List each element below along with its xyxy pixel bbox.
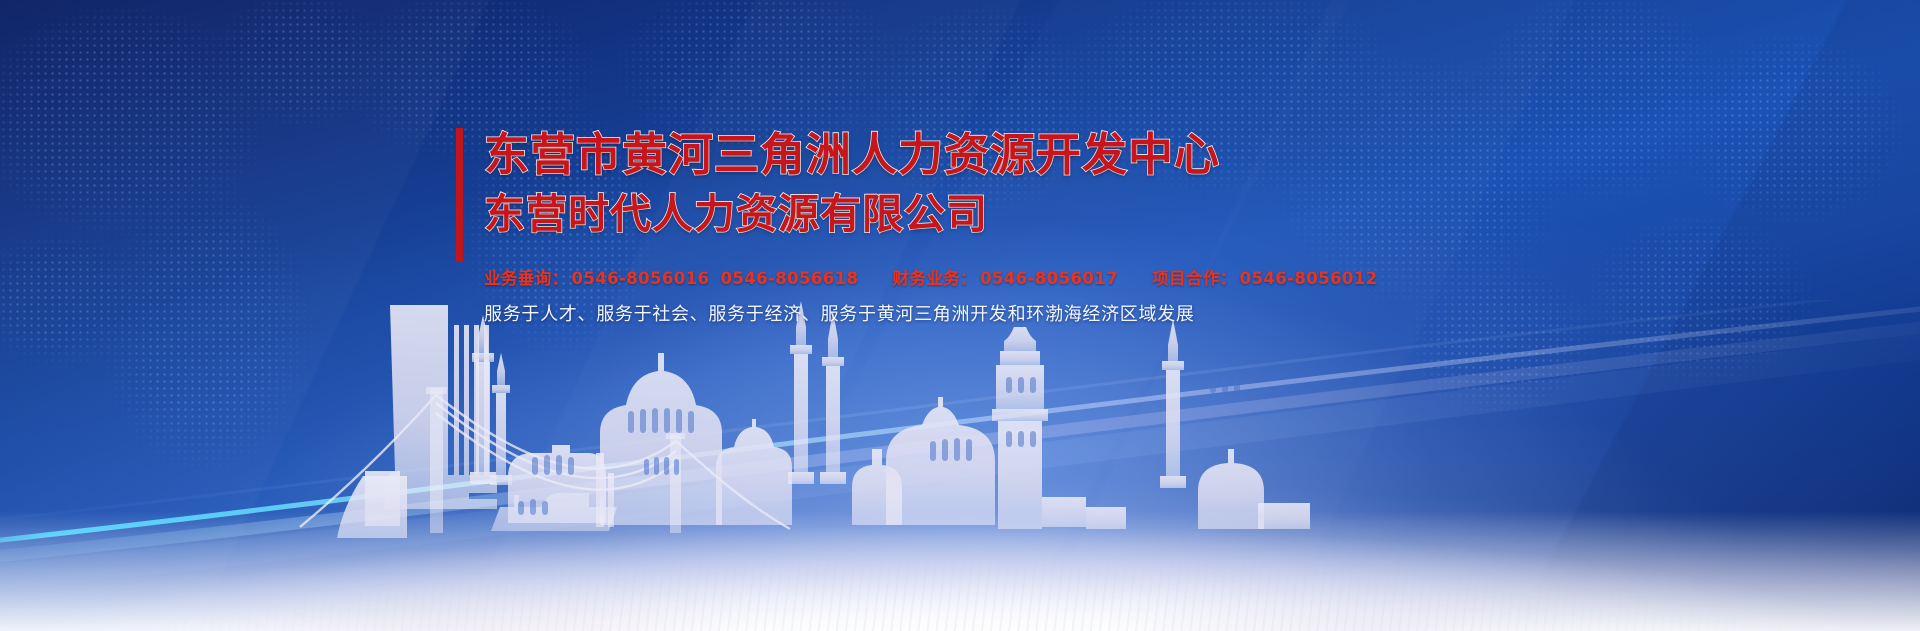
contact-label-project: 项目合作： (1152, 269, 1237, 288)
phone-business-1[interactable]: 0546-8056016 (572, 269, 710, 288)
phone-finance-1[interactable]: 0546-8056017 (980, 269, 1118, 288)
banner-title-line-1: 东营市黄河三角洲人力资源开发中心 (484, 128, 1656, 181)
foreground-road-texture (0, 496, 1920, 631)
contact-project-cooperation: 项目合作：0546-8056012 (1152, 269, 1377, 288)
contact-label-finance: 财务业务： (893, 269, 978, 288)
contact-finance: 财务业务：0546-8056017 (893, 269, 1118, 288)
title-group: 东营市黄河三角洲人力资源开发中心 东营时代人力资源有限公司 (456, 128, 1656, 238)
phone-business-2[interactable]: 0546-8056618 (720, 269, 858, 288)
phone-project-1[interactable]: 0546-8056012 (1240, 269, 1378, 288)
contact-label-business: 业务垂询： (484, 269, 569, 288)
banner-title-line-2: 东营时代人力资源有限公司 (484, 190, 1656, 238)
contact-business-inquiry: 业务垂询：0546-80560160546-8056618 (484, 269, 858, 288)
banner-text-block: 东营市黄河三角洲人力资源开发中心 东营时代人力资源有限公司 业务垂询：0546-… (456, 128, 1656, 326)
red-vertical-accent-bar (456, 128, 463, 262)
contact-phone-row: 业务垂询：0546-80560160546-8056618 财务业务：0546-… (456, 265, 1656, 289)
hr-center-promo-banner: 东营市黄河三角洲人力资源开发中心 东营时代人力资源有限公司 业务垂询：0546-… (0, 0, 1920, 631)
banner-slogan: 服务于人才、服务于社会、服务于经济、服务于黄河三角洲开发和环渤海经济区域发展 (456, 300, 1656, 326)
